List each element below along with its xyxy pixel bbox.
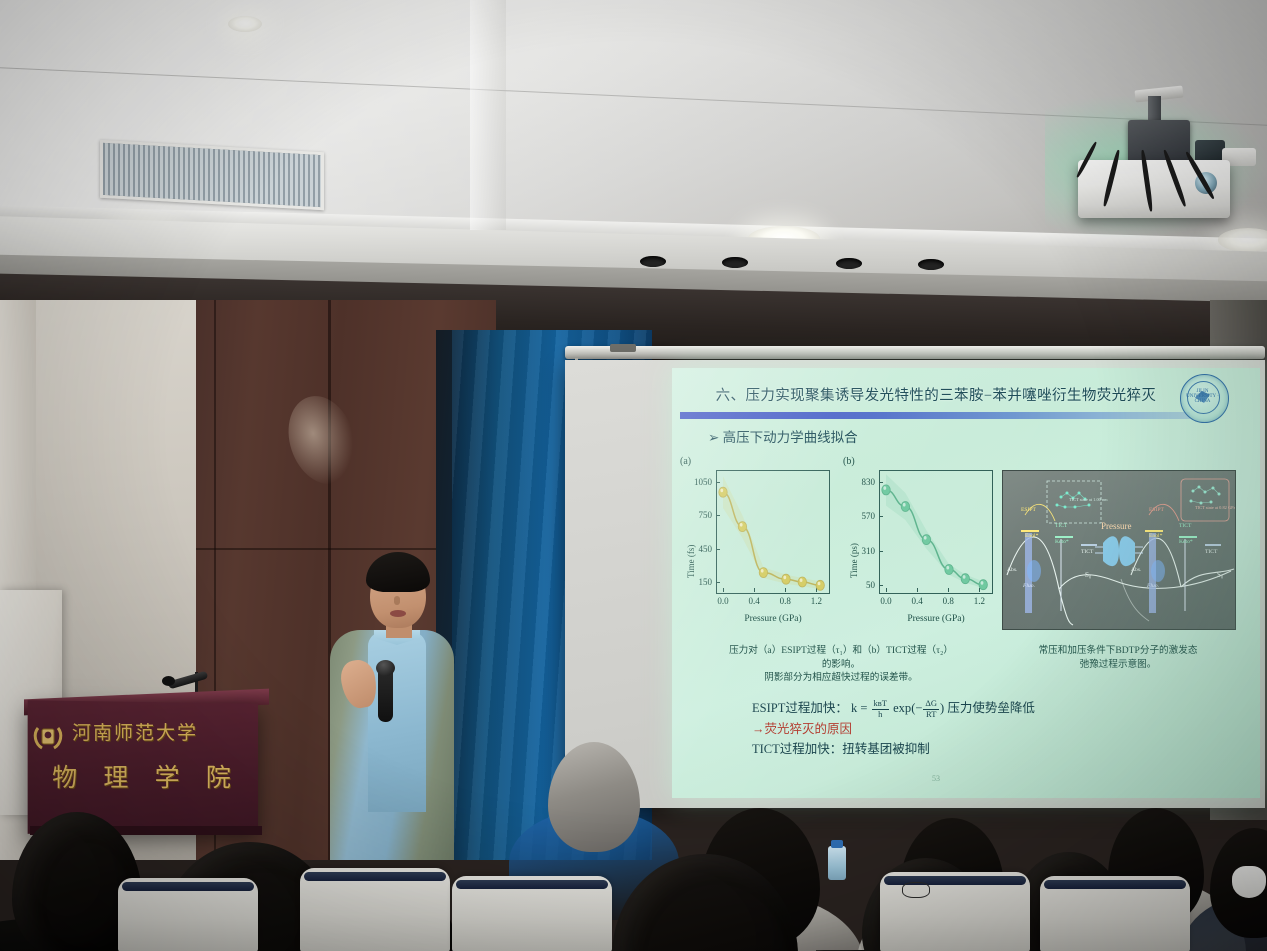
water-bottle[interactable] [828,846,846,880]
diagram-label-abs-left: Abs. [1007,567,1017,573]
equation-exp: exp [893,701,911,715]
slide-page-number: 53 [932,774,940,783]
diagram-label-fluo-left: Fluo. [1023,583,1035,589]
diagram-label-s0-left: S₀ [1085,571,1091,579]
chart-xtick-label: 0.8 [936,596,960,606]
presentation-slide: 六、压力实现聚集诱导发光特性的三苯胺−苯并噻唑衍生物荧光猝灭 JILIN UNI… [672,368,1260,798]
diagram-label-tict-state-left: TICT [1081,549,1093,555]
chart-panel-a: (a) Time (fs) Pressure (GPa) 15045075010… [680,456,840,636]
equation-block: ESIPT过程加快： k = kʙT h exp(− ΔG RT ) 压力使势垒… [752,698,1252,760]
chart-trend-line [886,490,983,585]
chart-data-point [945,565,953,575]
diagram-note-left: TICT state at 1.00 nm [1069,497,1108,502]
title-underline-bar [680,412,1190,419]
chart-ytick-label: 450 [682,544,712,554]
hvac-vent [100,140,324,211]
chart-data-point [979,580,987,590]
caption-left-line1: 压力对（a）ESIPT过程（τ₁）和（b）TICT过程（τ₂） [680,644,1002,658]
chart-data-point [961,574,969,584]
seat-frame [304,872,446,881]
chart-data-point [922,535,930,545]
diagram-label-esipt-left: ESIPT [1021,507,1036,513]
chart-data-point [816,580,824,590]
ceiling-beam [470,0,506,230]
chart-ytick-label: 150 [682,577,712,587]
chart-xtick-label: 0.0 [711,596,735,606]
seat-frame [456,880,608,889]
diagram-label-keto-right: Keto* [1179,539,1193,545]
eyeglasses [902,882,930,898]
projection-screen-roller [565,346,1265,359]
chart-ytick-label: 830 [845,477,875,487]
chart-error-band [886,474,983,588]
diagram-label-pressure: Pressure [1101,521,1132,531]
diagram-label-enol-right: Enol* [1149,533,1162,539]
diagram-label-s0-right: S₀ [1217,571,1223,579]
screen-roller-clip [610,344,636,352]
equation-line-1: ESIPT过程加快： k = kʙT h exp(− ΔG RT ) 压力使势垒… [752,698,1252,719]
ceiling-speaker-hole [918,259,944,270]
chart-xtick-label: 0.0 [874,596,898,606]
equation-frac2-den: RT [923,710,939,720]
diagram-label-tict-left: TICT [1055,523,1067,529]
water-bottle-cap [831,840,843,848]
ceiling-speaker-hole [836,258,862,269]
chart-data-point [798,577,806,587]
ceiling-speaker-hole [722,257,748,268]
chart-a-panel-label: (a) [680,456,691,467]
caption-right-line2: 弛豫过程示意图。 [1002,658,1234,672]
chart-xtick-label: 0.8 [773,596,797,606]
podium-sign-department: 物 理 学 院 [34,758,259,794]
ceiling-speaker-hole [640,256,666,267]
chart-ytick-label: 310 [845,546,875,556]
chart-ytick-label: 570 [845,511,875,521]
face-mask [1232,866,1266,898]
diagram-label-abs-right: Abs. [1131,567,1141,573]
chart-a-xlabel: Pressure (GPa) [718,614,828,624]
logo-text: JILIN UNIVERSITY · CHINA [1181,389,1224,404]
caption-right: 常压和加压条件下BDTP分子的激发态 弛豫过程示意图。 [1002,644,1234,671]
microphone-head-icon [376,660,395,676]
speaker-mouth [390,610,406,617]
vent-slats-icon [103,143,321,207]
projector-mount [1128,120,1190,164]
equation-fraction-kbt-h: kʙT h [872,699,889,719]
equation-paren-open: (− [911,701,922,715]
chart-ytick-label: 1050 [682,477,712,487]
university-crest-icon [32,722,64,752]
equation-fraction-dg-rt: ΔG RT [923,699,939,719]
equation-suffix: 压力使势垒降低 [947,701,1035,715]
chart-data-point [719,487,727,497]
jilin-university-logo-icon: JILIN UNIVERSITY · CHINA [1180,374,1229,423]
seat-frame [1044,880,1186,889]
podium-mic-head-icon [162,676,175,686]
equation-line-2: →荧光猝灭的原因 [752,719,1252,739]
chart-xtick-label: 0.4 [742,596,766,606]
chart-xtick-label: 1.2 [804,596,828,606]
diagram-label-fluo-right: Fluo. [1147,583,1159,589]
podium-sign-university: 河南师范大学 [72,718,252,745]
equation-frac1-den: h [872,710,889,720]
chart-error-band [723,476,820,589]
excited-state-relaxation-diagram: ESIPT TICT Enol* Keto* TICT Abs. Fluo. S… [1002,470,1236,630]
chart-a-series [716,470,828,592]
diagram-note-right: TICT state at 0.82 GPa [1195,505,1236,510]
chart-data-point [782,574,790,584]
caption-left-line3: 阴影部分为相应超快过程的误差带。 [680,671,1002,685]
chart-data-point [882,485,890,495]
seat-frame [122,882,254,891]
equation-prefix: ESIPT过程加快： [752,701,848,715]
caption-right-line1: 常压和加压条件下BDTP分子的激发态 [1002,644,1234,658]
equation-k: k = [851,701,867,715]
slide-title: 六、压力实现聚集诱导发光特性的三苯胺−苯并噻唑衍生物荧光猝灭 [686,384,1186,405]
chart-data-point [901,502,909,512]
chart-ytick-label: 50 [845,580,875,590]
diagram-label-tict-state-right: TICT [1205,549,1217,555]
speaker-nose [394,596,400,605]
chart-data-point [738,522,746,532]
caption-left-line2: 的影响。 [680,658,1002,672]
equation-line-3: TICT过程加快：扭转基团被抑制 [752,739,1252,759]
equation-paren-close: ) [940,701,944,715]
diagram-label-esipt-right: ESIPT [1149,507,1164,513]
chart-b-panel-label: (b) [843,456,855,467]
chart-panel-b: (b) Time (ps) Pressure (GPa) 50310570830… [843,456,1003,636]
diagram-label-tict-right: TICT [1179,523,1191,529]
chart-b-series [879,470,991,592]
chart-xtick-label: 1.2 [967,596,991,606]
caption-left: 压力对（a）ESIPT过程（τ₁）和（b）TICT过程（τ₂） 的影响。 阴影部… [680,644,1002,685]
diagram-label-keto-left: Keto* [1055,539,1069,545]
diagram-label-enol-left: Enol* [1025,533,1038,539]
diagram-svg [1003,471,1235,629]
crest-svg [32,722,64,752]
slide-bullet: ➢ 高压下动力学曲线拟合 [708,426,858,446]
chart-xtick-label: 0.4 [905,596,929,606]
lecture-hall-photo: 六、压力实现聚集诱导发光特性的三苯胺−苯并噻唑衍生物荧光猝灭 JILIN UNI… [0,0,1267,951]
speaker-shirt [368,632,426,812]
ceiling-downlight [228,16,262,32]
chart-ytick-label: 750 [682,510,712,520]
chart-b-xlabel: Pressure (GPa) [881,614,991,624]
chart-data-point [759,568,767,578]
